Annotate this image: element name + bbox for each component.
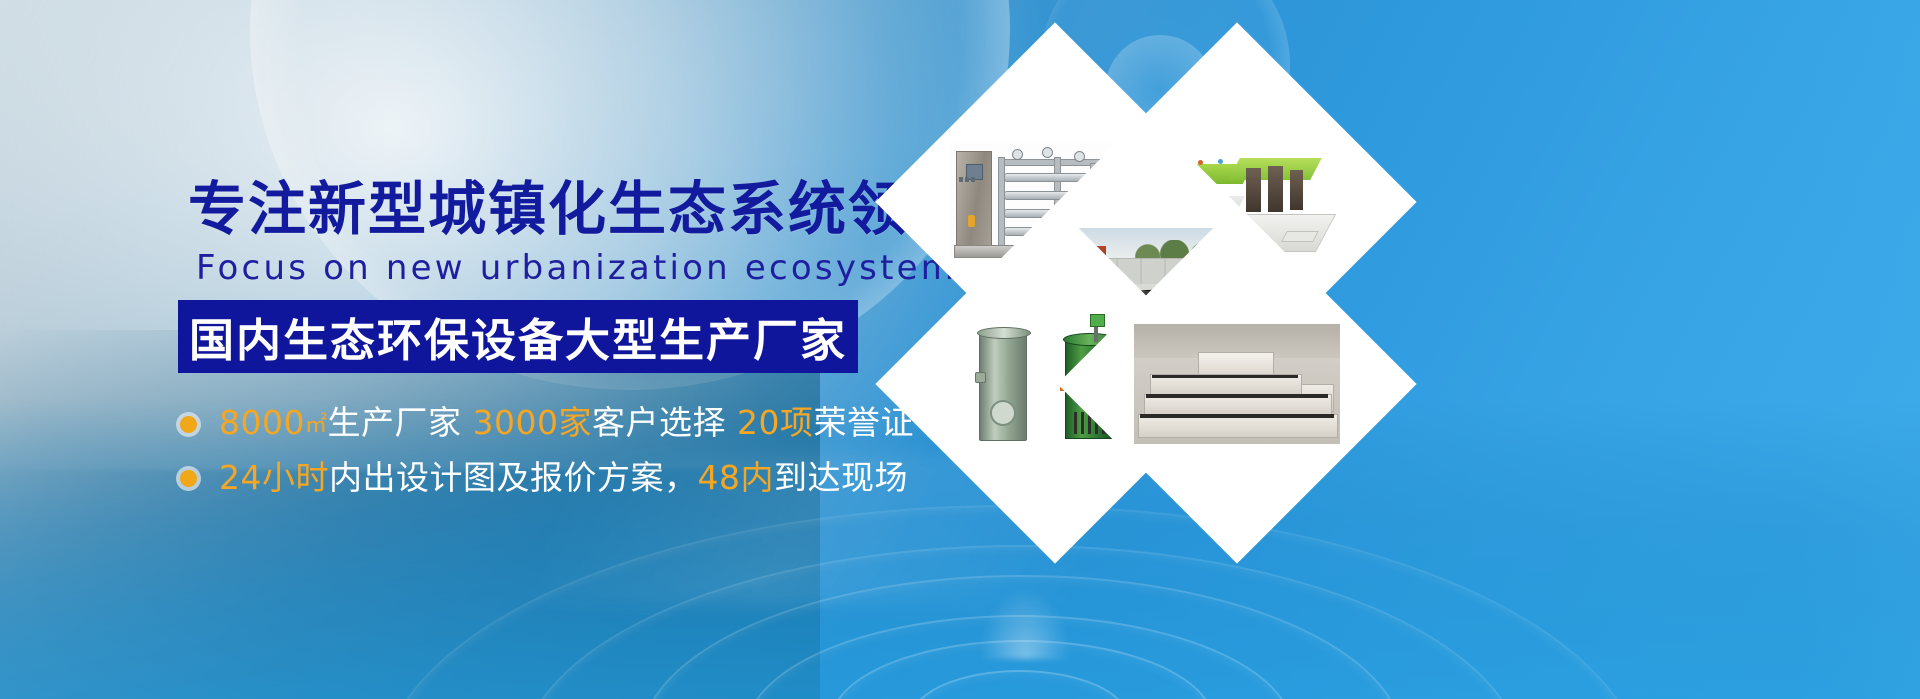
page-title: 专注新型城镇化生态系统领域 — [188, 178, 968, 240]
feature-text-segment: 项 — [780, 403, 814, 442]
feature-text-segment: 生产厂家 — [328, 403, 473, 442]
feature-list-item: 24小时内出设计图及报价方案，48内到达现场 — [180, 454, 920, 502]
feature-text-segment: 家 — [558, 403, 592, 442]
subtitle: Focus on new urbanization ecosystem — [196, 248, 957, 288]
bullet-dot-icon — [180, 470, 197, 487]
feature-text-segment: 3000 — [473, 403, 559, 442]
feature-list: 8000㎡生产厂家 3000家客户选择 20项荣誉证书24小时内出设计图及报价方… — [180, 400, 920, 508]
feature-list-item-text: 8000㎡生产厂家 3000家客户选择 20项荣誉证书 — [219, 402, 947, 447]
feature-text-segment: 内 — [741, 458, 775, 497]
feature-list-item-text: 24小时内出设计图及报价方案，48内到达现场 — [219, 457, 908, 499]
feature-text-segment: 24 — [219, 458, 262, 497]
highlight-banner-text: 国内生态环保设备大型生产厂家 — [189, 304, 847, 369]
feature-text-segment: 小时 — [262, 458, 329, 497]
feature-text-segment: 到达现场 — [774, 458, 908, 497]
feature-text-segment: 48 — [698, 458, 741, 497]
feature-text-segment: 8000 — [219, 403, 305, 442]
feature-text-segment: 内出设计图及报价方案， — [329, 458, 698, 497]
feature-list-item: 8000㎡生产厂家 3000家客户选择 20项荣誉证书 — [180, 400, 920, 448]
product-gallery: 39'47" × 16'9" 环保设备生产厂家 — [900, 0, 1920, 699]
aac-panel-stack-photo — [1134, 324, 1340, 444]
banner-copy-block: 专注新型城镇化生态系统领域 Focus on new urbanization … — [0, 0, 930, 699]
bullet-dot-icon — [180, 416, 197, 433]
feature-text-segment: ㎡ — [305, 413, 328, 438]
gallery-diamond-bottom-right-inner — [1110, 257, 1364, 511]
highlight-banner: 国内生态环保设备大型生产厂家 — [178, 300, 858, 373]
feature-text-segment: 20 — [737, 403, 780, 442]
feature-text-segment: 客户选择 — [592, 403, 737, 442]
promo-banner: 专注新型城镇化生态系统领域 Focus on new urbanization … — [0, 0, 1920, 699]
